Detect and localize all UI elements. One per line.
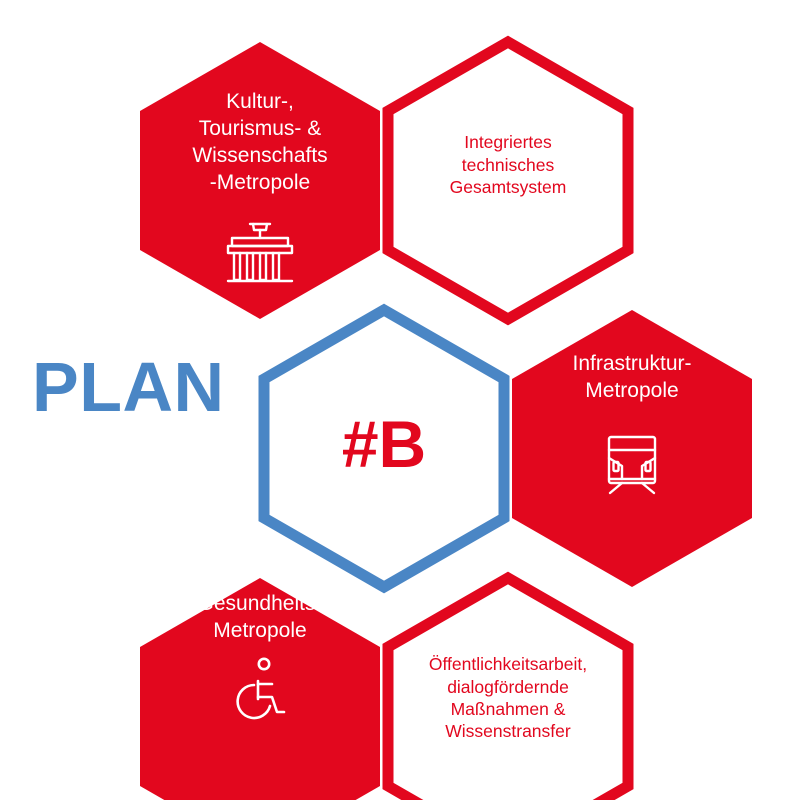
- hexagon-kultur[interactable]: [140, 42, 380, 319]
- hexagon-gesundheit[interactable]: [140, 578, 380, 800]
- diagram-canvas: Kultur-, Tourismus- & Wissenschafts -Met…: [0, 0, 800, 800]
- hexagon-infrastruktur[interactable]: [512, 310, 752, 587]
- hexagon-integriertes[interactable]: [388, 42, 628, 319]
- plan-wordmark: PLAN: [32, 340, 252, 434]
- hexagon-oeffentlichkeitsarbeit[interactable]: [388, 578, 628, 800]
- hexagon-integriertes-shape[interactable]: [388, 42, 628, 319]
- hexagon-oeffentlichkeitsarbeit-shape[interactable]: [388, 578, 628, 800]
- hexagon-infrastruktur-shape[interactable]: [512, 310, 752, 587]
- hexagon-gesundheit-shape[interactable]: [140, 578, 380, 800]
- center-hashtag-b-wordmark: #B: [264, 404, 504, 484]
